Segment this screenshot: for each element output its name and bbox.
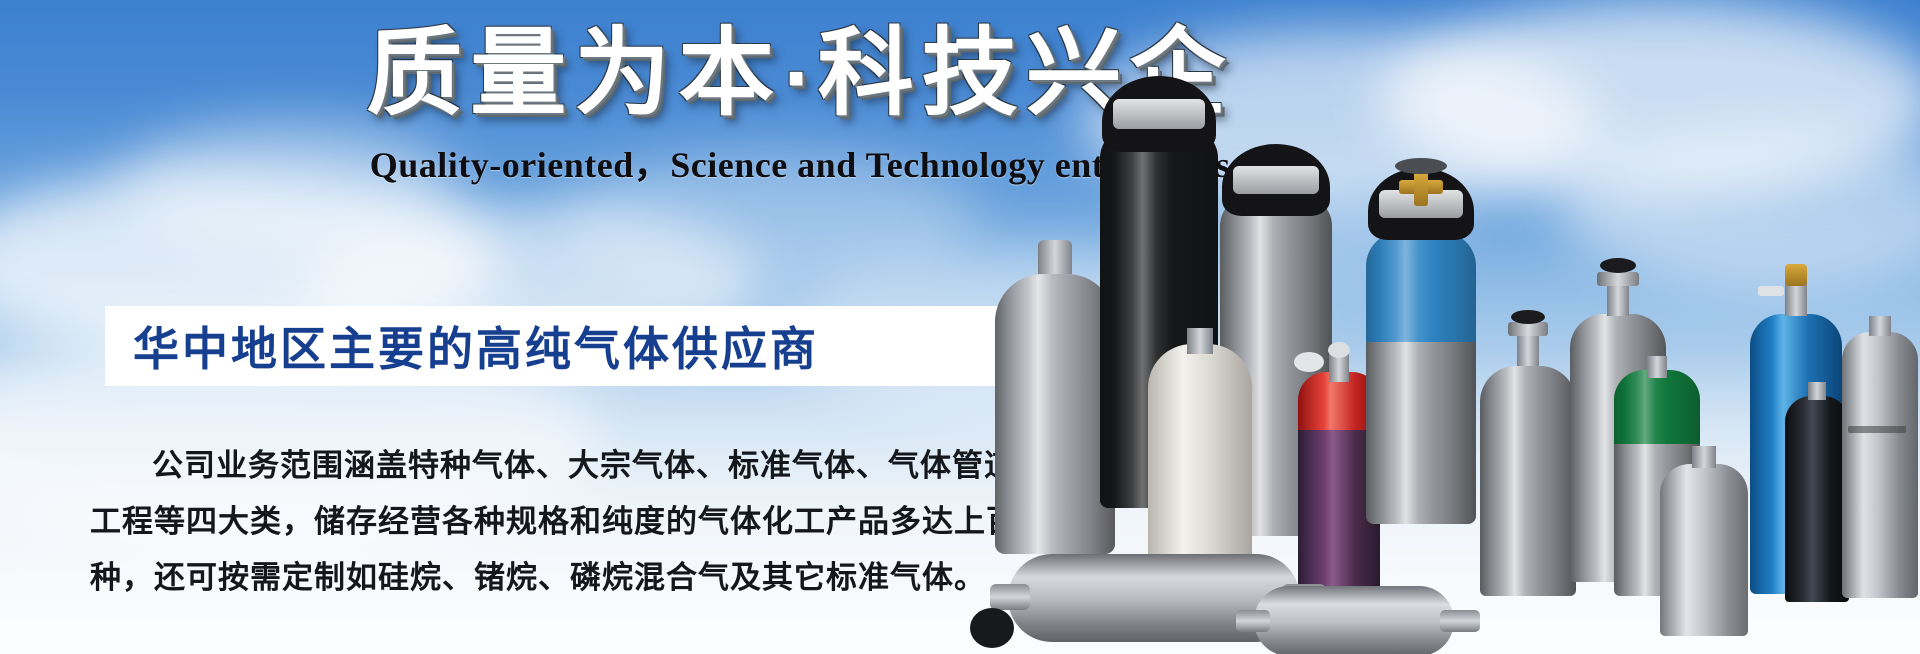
slogan-box: 华中地区主要的高纯气体供应商 — [105, 306, 1041, 386]
horizontal-small-tank — [1240, 586, 1470, 654]
paragraph-line: 工程等四大类，储存经营各种规格和纯度的气体化工产品多达上百 — [90, 494, 990, 550]
blue-grey-cylinder — [1366, 164, 1476, 524]
paragraph-line: 种，还可按需定制如硅烷、锗烷、磷烷混合气及其它标准气体。 — [90, 550, 990, 606]
promotional-banner: 质量为本·科技兴企 Quality-oriented，Science and T… — [0, 0, 1920, 654]
black-slim-cylinder — [1785, 382, 1849, 602]
slogan-text: 华中地区主要的高纯气体供应商 — [133, 313, 819, 379]
valve-outlet-icon — [1758, 286, 1784, 296]
gas-cylinders-image — [1130, 0, 1920, 654]
headline-part-1: 质量为本 — [366, 17, 782, 129]
grey-wide-cylinder — [995, 244, 1115, 554]
headline-separator-dot: · — [782, 37, 817, 121]
aluminium-tall-cylinder — [1842, 316, 1918, 598]
paragraph-line: 公司业务范围涵盖特种气体、大宗气体、标准气体、气体管道 — [90, 438, 990, 494]
cylinder-label — [1848, 426, 1906, 433]
description-paragraph: 公司业务范围涵盖特种气体、大宗气体、标准气体、气体管道 工程等四大类，储存经营各… — [90, 438, 990, 606]
tank-handwheel-icon — [970, 608, 1014, 648]
grey-medium-cylinder — [1480, 306, 1576, 596]
regulator-gauge-icon — [1294, 352, 1324, 372]
aluminium-short-cylinder — [1660, 446, 1748, 636]
